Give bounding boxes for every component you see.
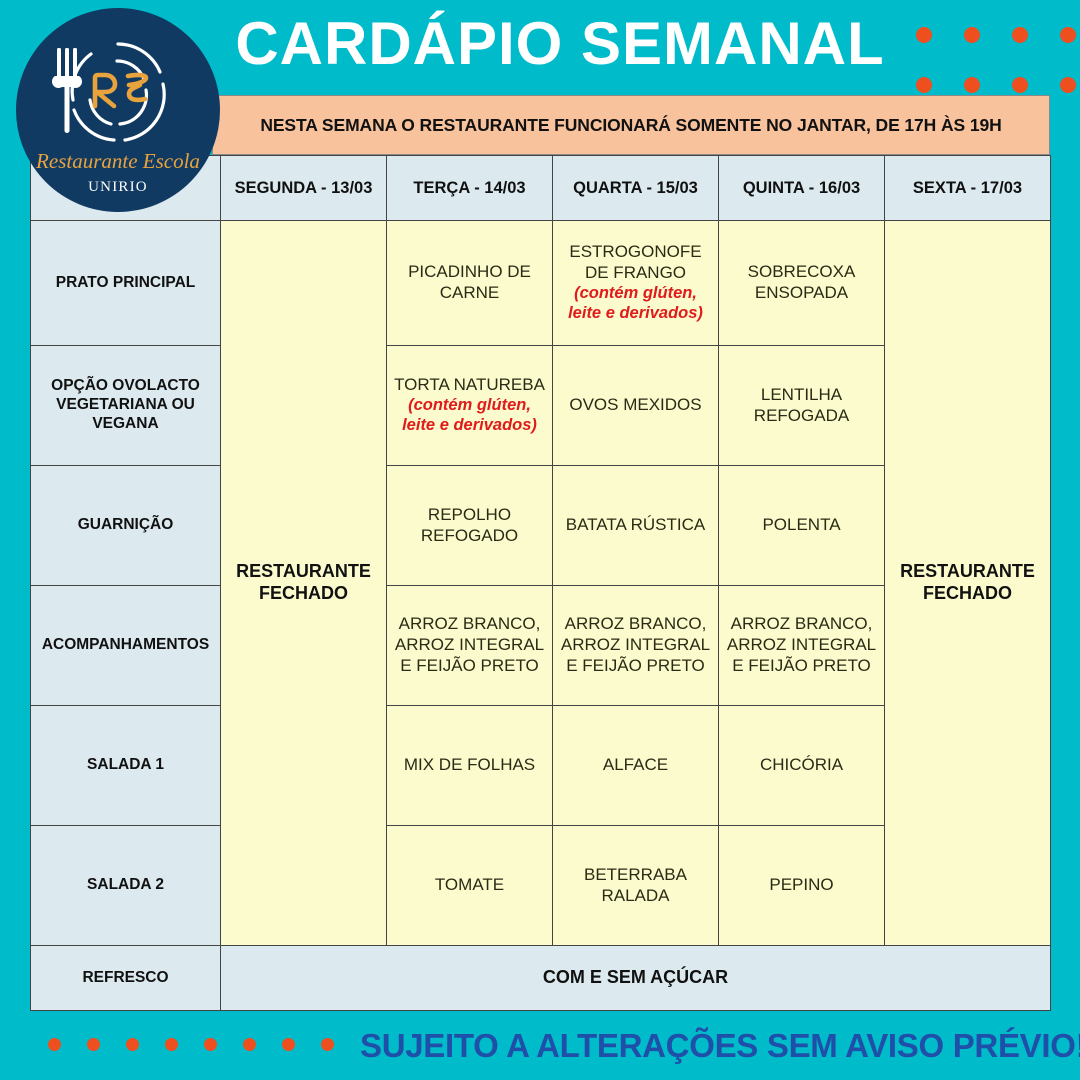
menu-cell-guarnicao-terca: REPOLHO REFOGADO	[386, 465, 553, 586]
dot-icon	[916, 77, 932, 93]
row-label-salada-2: SALADA 2	[30, 825, 221, 946]
dot-icon	[87, 1038, 100, 1051]
page-title: CARDÁPIO SEMANAL	[250, 4, 870, 82]
dot-icon	[321, 1038, 334, 1051]
dot-icon	[1060, 77, 1076, 93]
menu-cell-salada2-terca: TOMATE	[386, 825, 553, 946]
menu-item-text: ESTROGONOFE DE FRANGO	[557, 242, 714, 283]
allergen-note: (contém glúten, leite e derivados)	[391, 396, 548, 436]
closed-cell-sexta: RESTAURANTE FECHADO	[884, 220, 1051, 946]
row-label-salada-1: SALADA 1	[30, 705, 221, 826]
dot-icon	[243, 1038, 256, 1051]
announcement-banner: NESTA SEMANA O RESTAURANTE FUNCIONARÁ SO…	[212, 95, 1050, 155]
allergen-note: (contém glúten, leite e derivados)	[557, 284, 714, 324]
menu-cell-prato-quinta: SOBRECOXA ENSOPADA	[718, 220, 885, 346]
row-label-prato-principal: PRATO PRINCIPAL	[30, 220, 221, 346]
dot-icon	[165, 1038, 178, 1051]
dot-icon	[1060, 27, 1076, 43]
menu-cell-salada1-quarta: ALFACE	[552, 705, 719, 826]
menu-cell-vegetariana-terca: TORTA NATUREBA (contém glúten, leite e d…	[386, 345, 553, 466]
day-header-quinta: QUINTA - 16/03	[718, 155, 885, 221]
menu-cell-salada2-quarta: BETERRABA RALADA	[552, 825, 719, 946]
footer-dot-row	[48, 1038, 334, 1051]
day-header-segunda: SEGUNDA - 13/03	[220, 155, 387, 221]
menu-cell-acompanhamentos-terca: ARROZ BRANCO, ARROZ INTEGRAL E FEIJÃO PR…	[386, 585, 553, 706]
menu-cell-acompanhamentos-quarta: ARROZ BRANCO, ARROZ INTEGRAL E FEIJÃO PR…	[552, 585, 719, 706]
menu-cell-prato-quarta: ESTROGONOFE DE FRANGO (contém glúten, le…	[552, 220, 719, 346]
menu-cell-salada2-quinta: PEPINO	[718, 825, 885, 946]
dot-icon	[1012, 27, 1028, 43]
menu-cell-guarnicao-quinta: POLENTA	[718, 465, 885, 586]
menu-cell-prato-terca: PICADINHO DE CARNE	[386, 220, 553, 346]
logo-script-name: Restaurante Escola	[35, 149, 200, 173]
menu-cell-refresco-all: COM E SEM AÇÚCAR	[220, 945, 1051, 1011]
day-header-sexta: SEXTA - 17/03	[884, 155, 1051, 221]
menu-cell-salada1-terca: MIX DE FOLHAS	[386, 705, 553, 826]
plate-icon	[72, 44, 164, 140]
page-footer: SUJEITO A ALTERAÇÕES SEM AVISO PRÉVIO!	[0, 1016, 1080, 1080]
day-header-quarta: QUARTA - 15/03	[552, 155, 719, 221]
day-header-terca: TERÇA - 14/03	[386, 155, 553, 221]
dot-icon	[964, 77, 980, 93]
footer-disclaimer: SUJEITO A ALTERAÇÕES SEM AVISO PRÉVIO!	[360, 1020, 1060, 1072]
dot-icon	[48, 1038, 61, 1051]
dot-icon	[964, 27, 980, 43]
restaurant-logo: Restaurante Escola UNIRIO	[16, 8, 220, 212]
menu-cell-vegetariana-quinta: LENTILHA REFOGADA	[718, 345, 885, 466]
announcement-text: NESTA SEMANA O RESTAURANTE FUNCIONARÁ SO…	[260, 115, 1001, 136]
logo-institution: UNIRIO	[88, 179, 148, 195]
menu-cell-guarnicao-quarta: BATATA RÚSTICA	[552, 465, 719, 586]
closed-cell-segunda: RESTAURANTE FECHADO	[220, 220, 387, 946]
dot-icon	[282, 1038, 295, 1051]
dot-icon	[204, 1038, 217, 1051]
row-label-vegetariana: OPÇÃO OVOLACTO VEGETARIANA OU VEGANA	[30, 345, 221, 466]
dot-icon	[126, 1038, 139, 1051]
menu-item-text: TORTA NATUREBA	[394, 375, 545, 396]
row-label-acompanhamentos: ACOMPANHAMENTOS	[30, 585, 221, 706]
dot-icon	[1012, 77, 1028, 93]
re-monogram	[95, 75, 146, 106]
menu-cell-acompanhamentos-quinta: ARROZ BRANCO, ARROZ INTEGRAL E FEIJÃO PR…	[718, 585, 885, 706]
row-label-refresco: REFRESCO	[30, 945, 221, 1011]
menu-cell-vegetariana-quarta: OVOS MEXIDOS	[552, 345, 719, 466]
menu-cell-salada1-quinta: CHICÓRIA	[718, 705, 885, 826]
weekly-menu-table: SEGUNDA - 13/03 TERÇA - 14/03 QUARTA - 1…	[30, 155, 1050, 1010]
dot-icon	[916, 27, 932, 43]
row-label-guarnicao: GUARNIÇÃO	[30, 465, 221, 586]
